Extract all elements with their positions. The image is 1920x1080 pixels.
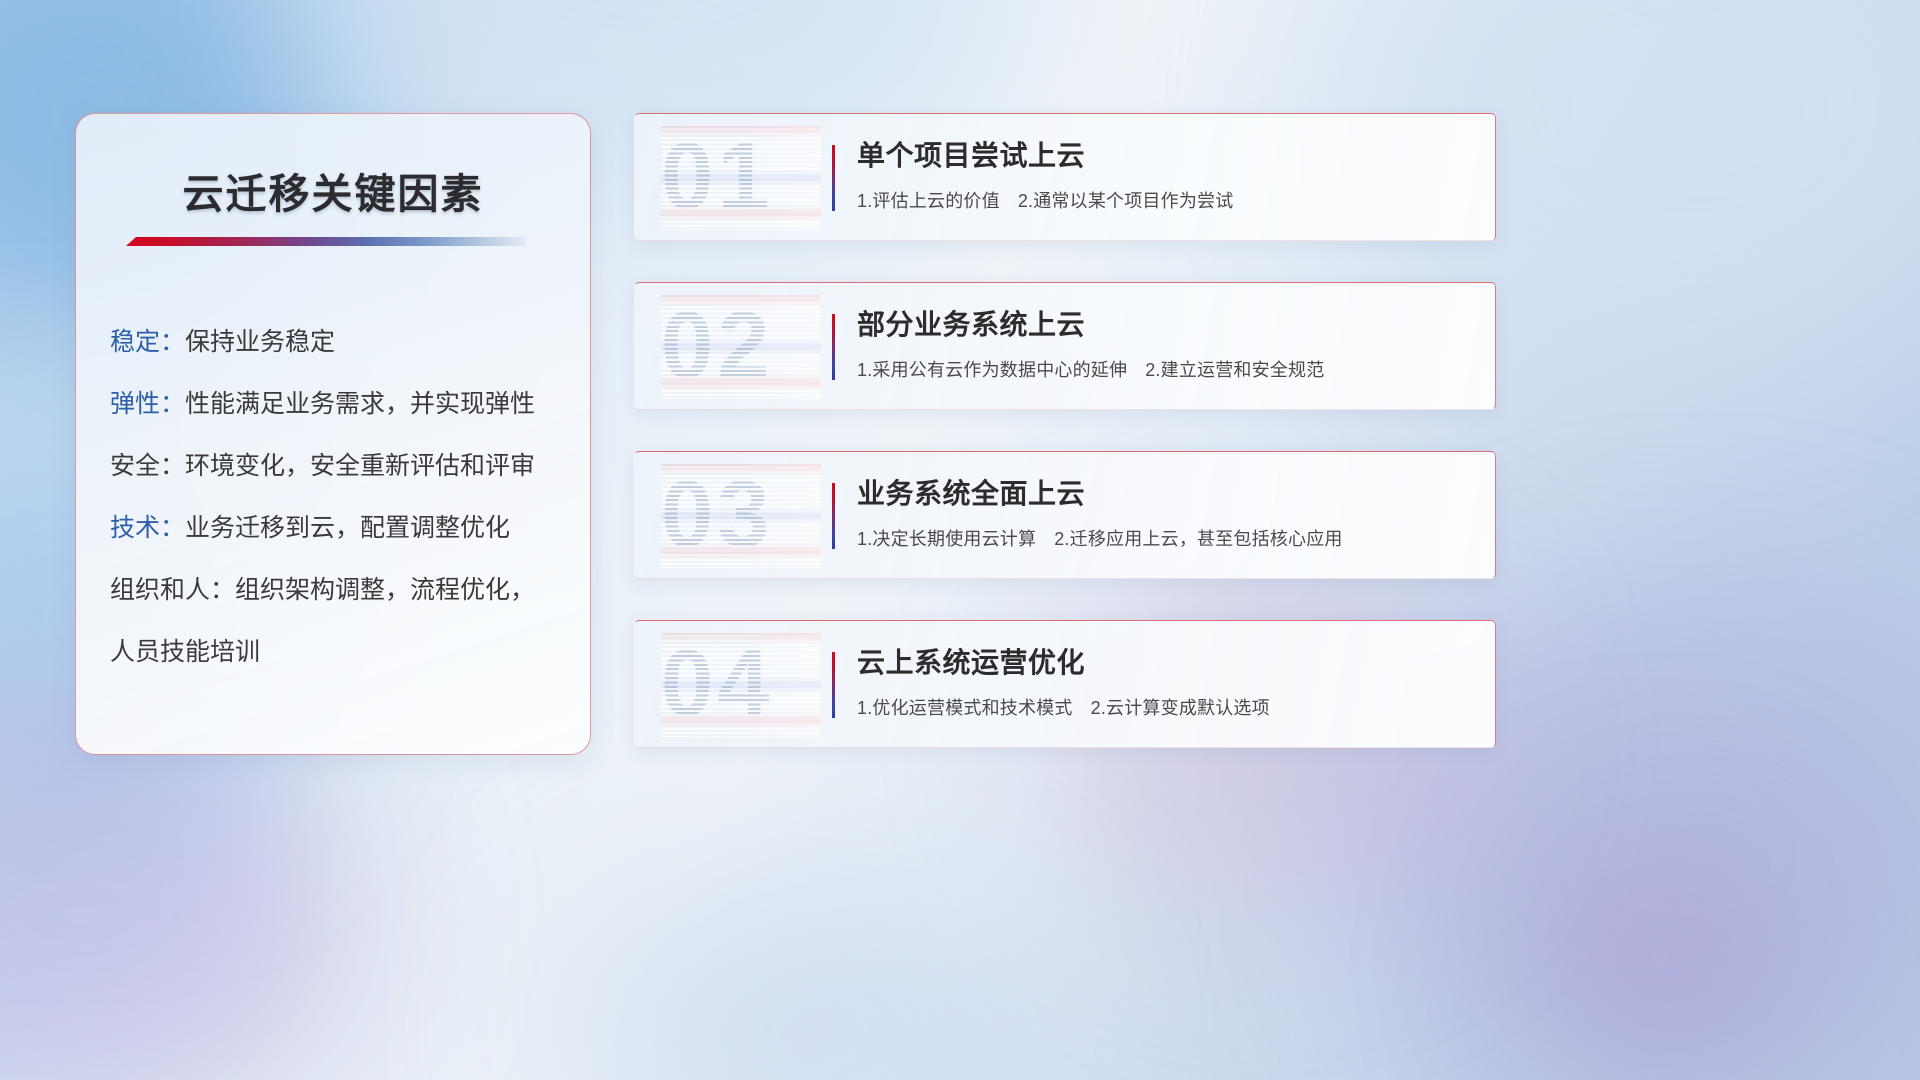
stage-number: 02	[661, 295, 821, 399]
stage-card[interactable]: 02部分业务系统上云1.采用公有云作为数据中心的延伸2.建立运营和安全规范	[634, 282, 1496, 410]
stage-number-glyph: 01	[661, 126, 821, 230]
factor-value: 性能满足业务需求，并实现弹性	[185, 390, 535, 418]
factor-label: 稳定：	[110, 328, 185, 356]
stage-title: 业务系统全面上云	[857, 474, 1475, 514]
stage-card[interactable]: 01单个项目尝试上云1.评估上云的价值2.通常以某个项目作为尝试	[634, 113, 1496, 241]
factor-value: 业务迁移到云，配置调整优化	[185, 514, 510, 542]
stage-number-glyph: 04	[661, 633, 821, 737]
stage-point: 1.评估上云的价值	[857, 191, 1000, 211]
key-factors-panel: 云迁移关键因素 稳定：保持业务稳定弹性：性能满足业务需求，并实现弹性安全：环境变…	[75, 113, 591, 755]
factor-label: 安全：	[110, 452, 185, 480]
stage-number: 03	[661, 464, 821, 568]
factor-row: 弹性：性能满足业务需求，并实现弹性	[110, 373, 568, 435]
factor-value: 保持业务稳定	[185, 328, 335, 356]
stage-divider-bar	[832, 483, 835, 549]
factor-row: 技术：业务迁移到云，配置调整优化	[110, 497, 568, 559]
factor-label: 技术：	[110, 514, 185, 542]
stage-title: 单个项目尝试上云	[857, 136, 1475, 176]
stage-card-body: 单个项目尝试上云1.评估上云的价值2.通常以某个项目作为尝试	[857, 136, 1475, 214]
stage-card[interactable]: 04云上系统运营优化1.优化运营模式和技术模式2.云计算变成默认选项	[634, 620, 1496, 748]
stage-number: 01	[661, 126, 821, 230]
factor-label: 组织和人：	[110, 576, 235, 604]
stage-number: 04	[661, 633, 821, 737]
stage-card-body: 部分业务系统上云1.采用公有云作为数据中心的延伸2.建立运营和安全规范	[857, 305, 1475, 383]
stage-title: 云上系统运营优化	[857, 643, 1475, 683]
stage-card[interactable]: 03业务系统全面上云1.决定长期使用云计算2.迁移应用上云，甚至包括核心应用	[634, 451, 1496, 579]
stage-card-list: 01单个项目尝试上云1.评估上云的价值2.通常以某个项目作为尝试02部分业务系统…	[634, 113, 1496, 748]
title-accent-bar	[126, 237, 526, 246]
stage-points: 1.决定长期使用云计算2.迁移应用上云，甚至包括核心应用	[857, 526, 1475, 552]
factor-row: 人员技能培训	[110, 621, 568, 683]
stage-point: 1.决定长期使用云计算	[857, 529, 1036, 549]
factor-value: 组织架构调整，流程优化，	[235, 576, 535, 604]
stage-point: 2.迁移应用上云，甚至包括核心应用	[1054, 529, 1342, 549]
stage-card-body: 业务系统全面上云1.决定长期使用云计算2.迁移应用上云，甚至包括核心应用	[857, 474, 1475, 552]
factor-value: 环境变化，安全重新评估和评审	[185, 452, 535, 480]
factor-value: 人员技能培训	[110, 638, 260, 666]
stage-point: 2.通常以某个项目作为尝试	[1018, 191, 1234, 211]
stage-point: 2.建立运营和安全规范	[1145, 360, 1324, 380]
stage-divider-bar	[832, 652, 835, 718]
page-title: 云迁移关键因素	[76, 160, 590, 220]
factor-label: 弹性：	[110, 390, 185, 418]
stage-point: 1.优化运营模式和技术模式	[857, 698, 1073, 718]
factor-row: 稳定：保持业务稳定	[110, 311, 568, 373]
factor-list: 稳定：保持业务稳定弹性：性能满足业务需求，并实现弹性安全：环境变化，安全重新评估…	[110, 311, 568, 683]
stage-points: 1.评估上云的价值2.通常以某个项目作为尝试	[857, 188, 1475, 214]
stage-points: 1.采用公有云作为数据中心的延伸2.建立运营和安全规范	[857, 357, 1475, 383]
factor-row: 安全：环境变化，安全重新评估和评审	[110, 435, 568, 497]
stage-points: 1.优化运营模式和技术模式2.云计算变成默认选项	[857, 695, 1475, 721]
stage-point: 2.云计算变成默认选项	[1091, 698, 1270, 718]
stage-divider-bar	[832, 314, 835, 380]
slide-stage: 云迁移关键因素 稳定：保持业务稳定弹性：性能满足业务需求，并实现弹性安全：环境变…	[0, 0, 1920, 1080]
stage-divider-bar	[832, 145, 835, 211]
stage-point: 1.采用公有云作为数据中心的延伸	[857, 360, 1127, 380]
stage-card-body: 云上系统运营优化1.优化运营模式和技术模式2.云计算变成默认选项	[857, 643, 1475, 721]
stage-title: 部分业务系统上云	[857, 305, 1475, 345]
factor-row: 组织和人：组织架构调整，流程优化，	[110, 559, 568, 621]
stage-number-glyph: 02	[661, 295, 821, 399]
stage-number-glyph: 03	[661, 464, 821, 568]
